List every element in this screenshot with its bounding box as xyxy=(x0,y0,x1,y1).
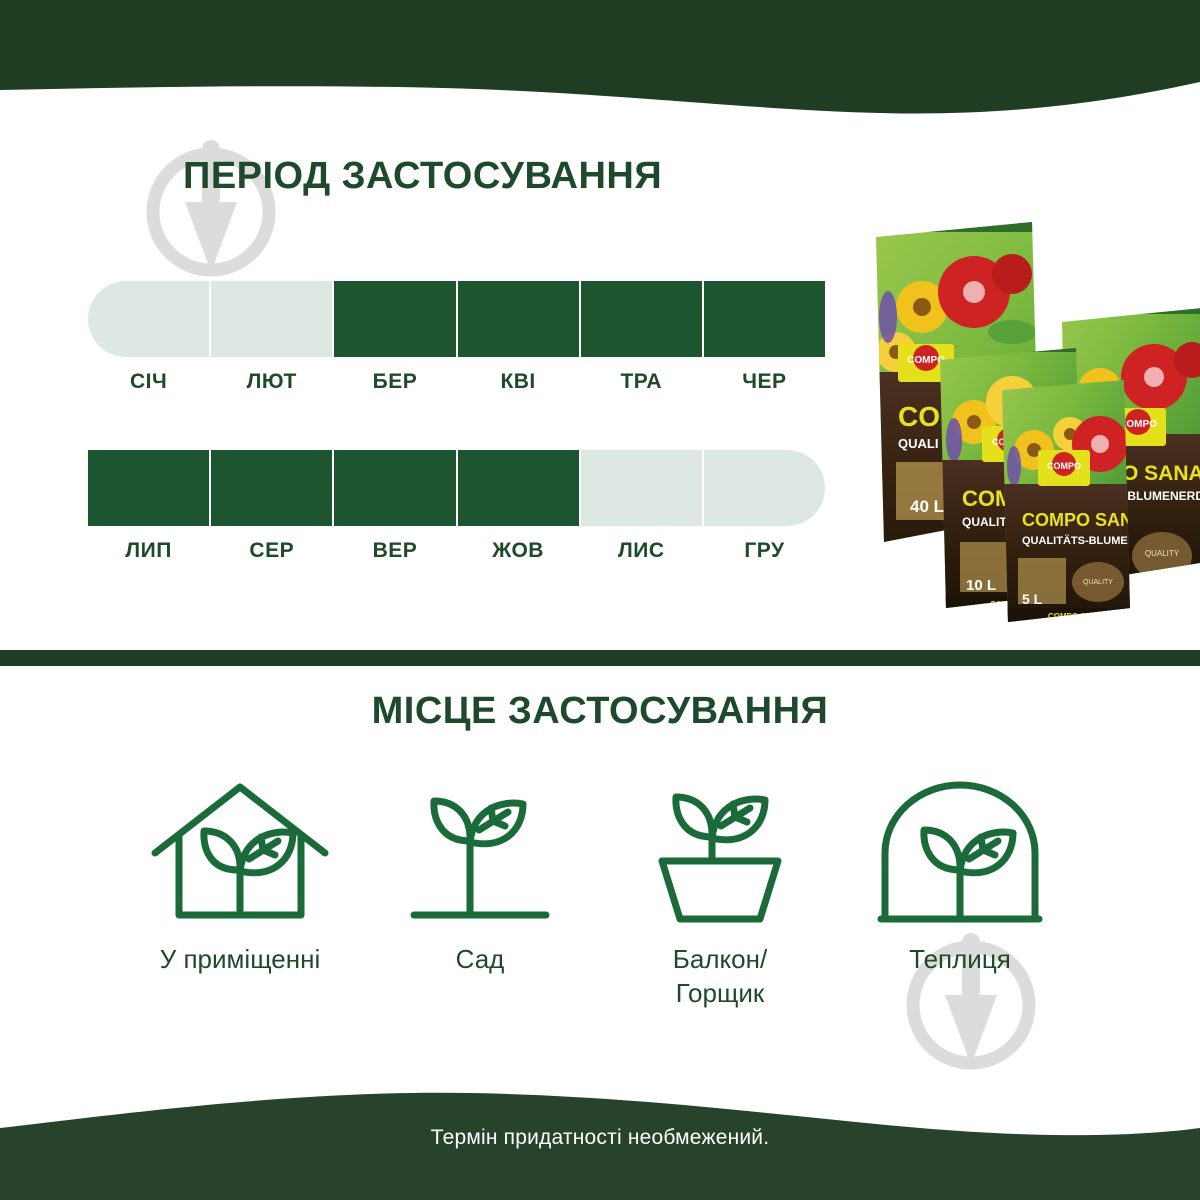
greenhouse-plant-icon xyxy=(875,775,1045,925)
month-bar-liut[interactable] xyxy=(211,281,332,357)
month-label-liut: ЛЮТ xyxy=(211,370,332,394)
month-bar-ver[interactable] xyxy=(334,450,455,526)
month-label-sich: СІЧ xyxy=(88,370,209,394)
month-bar-sich[interactable] xyxy=(88,281,209,357)
month-label-hru: ГРУ xyxy=(704,539,825,563)
month-bar-hru[interactable] xyxy=(704,450,825,526)
month-bar-cher[interactable] xyxy=(704,281,825,357)
place-section-title: МІСЦЕ ЗАСТОСУВАННЯ xyxy=(0,690,1200,733)
month-label-cher: ЧЕР xyxy=(704,370,825,394)
month-label-kvi: КВІ xyxy=(458,370,579,394)
usage-label-balcony-pot: Балкон/ Горщик xyxy=(673,943,767,1011)
svg-text:COMPO SANA: COMPO SANA xyxy=(1022,510,1146,530)
month-row-second-half: ЛИП СЕР ВЕР ЖОВ ЛИС ГРУ xyxy=(88,450,825,563)
svg-text:10 L: 10 L xyxy=(966,577,996,594)
footer-note: Термін придатності необмежений. xyxy=(0,1126,1200,1150)
month-bars xyxy=(88,281,825,357)
usage-places-row: У приміщенні Сад xyxy=(120,775,1080,1011)
usage-item-indoor[interactable]: У приміщенні xyxy=(120,775,360,1011)
month-bar-ser[interactable] xyxy=(211,450,332,526)
usage-label-garden: Сад xyxy=(456,943,505,977)
usage-item-greenhouse[interactable]: Теплиця xyxy=(840,775,1080,1011)
month-labels: СІЧ ЛЮТ БЕР КВІ ТРА ЧЕР xyxy=(88,370,825,394)
month-label-lyp: ЛИП xyxy=(88,539,209,563)
month-label-tra: ТРА xyxy=(581,370,702,394)
svg-text:40 L: 40 L xyxy=(910,497,944,516)
month-label-lys: ЛИС xyxy=(581,539,702,563)
month-label-ver: ВЕР xyxy=(334,539,455,563)
month-bar-kvi[interactable] xyxy=(458,281,579,357)
svg-text:COMPO SANA: COMPO SANA xyxy=(1048,612,1103,621)
month-bar-zhov[interactable] xyxy=(458,450,579,526)
usage-label-indoor: У приміщенні xyxy=(160,943,321,977)
month-bars xyxy=(88,450,825,526)
month-bar-tra[interactable] xyxy=(581,281,702,357)
usage-label-greenhouse: Теплиця xyxy=(909,943,1011,977)
product-packs-image: COMPO CO QUALI 40 L COMPO PO SANA TS-BLU… xyxy=(862,212,1200,624)
svg-text:COMPO: COMPO xyxy=(907,355,945,366)
month-label-ser: СЕР xyxy=(211,539,332,563)
svg-text:QUALI: QUALI xyxy=(898,436,938,451)
month-bar-lyp[interactable] xyxy=(88,450,209,526)
month-labels: ЛИП СЕР ВЕР ЖОВ ЛИС ГРУ xyxy=(88,539,825,563)
top-wave-banner xyxy=(0,0,1200,130)
month-bar-ber[interactable] xyxy=(334,281,455,357)
potted-plant-icon xyxy=(640,775,800,925)
month-bar-lys[interactable] xyxy=(581,450,702,526)
garden-plant-icon xyxy=(400,775,560,925)
svg-text:QUALITY: QUALITY xyxy=(1145,549,1180,558)
usage-item-balcony-pot[interactable]: Балкон/ Горщик xyxy=(600,775,840,1011)
period-section-title: ПЕРІОД ЗАСТОСУВАННЯ xyxy=(183,155,662,198)
svg-text:COMPO: COMPO xyxy=(1047,461,1081,471)
infographic-page: ПЕРІОД ЗАСТОСУВАННЯ СІЧ ЛЮТ БЕР КВІ ТРА … xyxy=(0,0,1200,1200)
month-label-ber: БЕР xyxy=(334,370,455,394)
svg-text:5 L: 5 L xyxy=(1022,591,1043,607)
svg-text:CO: CO xyxy=(898,401,940,432)
month-row-first-half: СІЧ ЛЮТ БЕР КВІ ТРА ЧЕР xyxy=(88,281,825,394)
section-divider xyxy=(0,650,1200,666)
house-plant-icon xyxy=(145,775,335,925)
month-label-zhov: ЖОВ xyxy=(458,539,579,563)
usage-item-garden[interactable]: Сад xyxy=(360,775,600,1011)
svg-text:QUALITY: QUALITY xyxy=(1083,579,1113,586)
